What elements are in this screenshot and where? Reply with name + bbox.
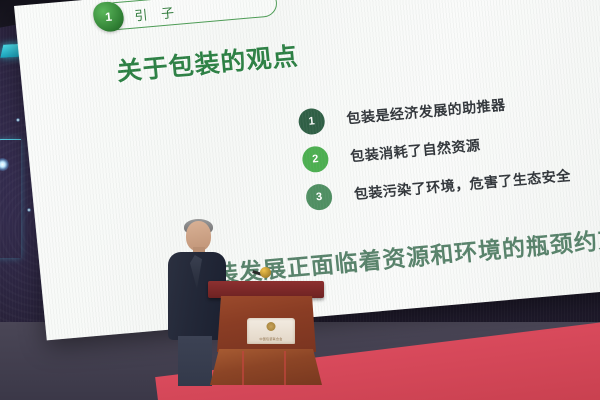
podium-front-panel: 中国包装联合会: [217, 296, 316, 352]
podium-seam: [284, 351, 286, 385]
speaker-legs: [178, 336, 212, 386]
section-badge: 1 引 子: [92, 0, 278, 33]
organization-emblem-icon: [267, 322, 276, 331]
podium-seam: [242, 351, 244, 385]
bullet-text: 包装污染了环境，危害了生态安全: [353, 165, 572, 204]
light-particle: [27, 208, 31, 212]
bullet-number: 1: [297, 107, 325, 135]
bullet-number: 3: [305, 183, 333, 211]
page-title: 关于包装的观点: [115, 37, 300, 89]
cyan-corner-line-decor-icon: [0, 139, 21, 258]
bullet-text: 包装是经济发展的助推器: [346, 95, 507, 129]
podium-base: [210, 349, 322, 385]
bullet-number: 2: [301, 145, 329, 173]
light-particle: [16, 118, 20, 122]
section-label-frame: 引 子: [110, 0, 278, 30]
conference-stage-photo: 1 引 子 关于包装的观点 1 包装是经济发展的助推器 2 包装消耗了自然资源 …: [0, 0, 600, 400]
bullet-text: 包装消耗了自然资源: [349, 135, 481, 166]
podium: 中国包装联合会: [208, 281, 324, 385]
bullet-list: 1 包装是经济发展的助推器 2 包装消耗了自然资源 3 包装污染了环境，危害了生…: [297, 87, 573, 224]
podium-top-surface: [208, 281, 324, 298]
microphone-head: [260, 267, 271, 278]
podium-plate-text: 中国包装联合会: [247, 337, 295, 341]
podium-emblem-plate: 中国包装联合会: [247, 318, 295, 344]
